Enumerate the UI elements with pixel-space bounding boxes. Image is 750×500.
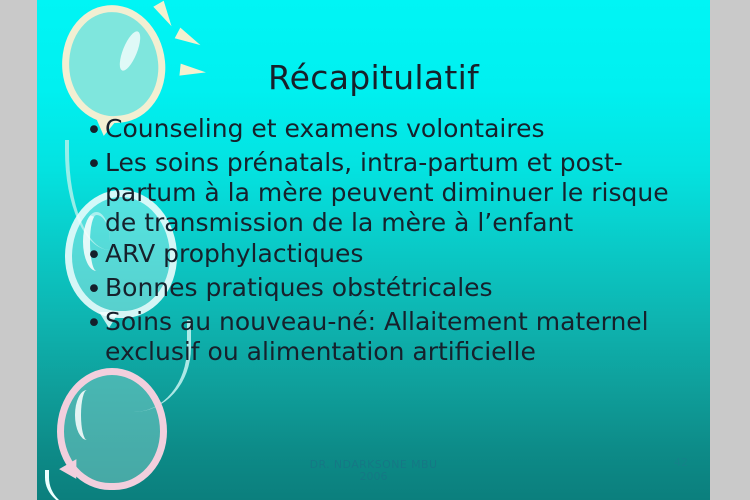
bullet-text: Bonnes pratiques obstétricales <box>105 273 703 303</box>
sparkle-icon <box>205 421 217 422</box>
bullet-text: Counseling et examens volontaires <box>105 114 703 144</box>
bullet-text: Soins au nouveau-né: Allaitement materne… <box>105 307 703 367</box>
list-item: • Counseling et examens volontaires <box>83 114 703 147</box>
list-item: • Bonnes pratiques obstétricales <box>83 273 703 306</box>
slide-bullet-list: • Counseling et examens volontaires • Le… <box>83 114 703 368</box>
slide-number: 42 <box>674 456 688 469</box>
bullet-marker-icon: • <box>83 307 105 340</box>
bullet-marker-icon: • <box>83 239 105 272</box>
list-item: • ARV prophylactiques <box>83 239 703 272</box>
slide-title: Récapitulatif <box>37 58 710 97</box>
right-margin-band <box>710 0 750 500</box>
sparkle-icon <box>175 28 204 51</box>
presentation-slide-frame: Récapitulatif • Counseling et examens vo… <box>0 0 750 500</box>
slide-footer-year: 2006 <box>37 470 710 483</box>
list-item: • Les soins prénatals, intra-partum et p… <box>83 148 703 238</box>
list-item: • Soins au nouveau-né: Allaitement mater… <box>83 307 703 367</box>
bullet-marker-icon: • <box>83 148 105 181</box>
sparkle-icon <box>176 427 186 433</box>
sparkle-icon <box>233 410 244 414</box>
bullet-text: Les soins prénatals, intra-partum et pos… <box>105 148 703 238</box>
left-margin-band <box>0 0 37 500</box>
slide-canvas: Récapitulatif • Counseling et examens vo… <box>37 0 710 500</box>
sparkle-icon <box>153 1 176 30</box>
sparkle-icon <box>72 285 82 291</box>
bullet-marker-icon: • <box>83 114 105 147</box>
bullet-marker-icon: • <box>83 273 105 306</box>
balloon-bottom-left-highlight-icon <box>75 390 99 440</box>
bullet-text: ARV prophylactiques <box>105 239 703 269</box>
